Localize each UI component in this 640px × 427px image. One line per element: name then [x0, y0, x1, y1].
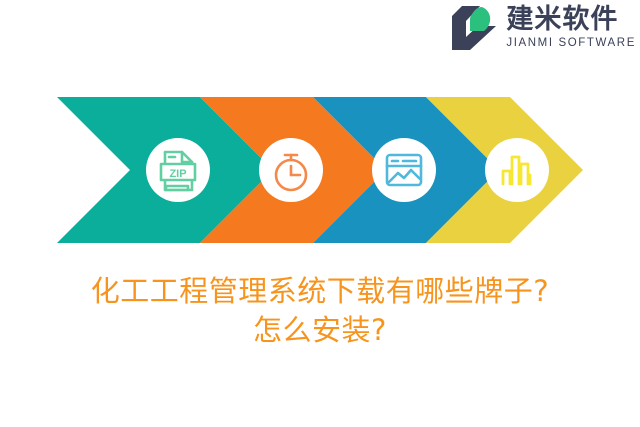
icon-circle-bar-chart: [485, 138, 549, 202]
logo-cn-name: 建米软件: [506, 6, 618, 33]
chevron-process-banner: ZIP: [0, 0, 640, 427]
page-title-line-1: 化工工程管理系统下载有哪些牌子?: [0, 272, 640, 311]
icon-circle-image-window: [372, 138, 436, 202]
jianmi-software-logo: 建米软件 JIANMI SOFTWARE: [448, 4, 636, 52]
logo-text-block: 建米软件 JIANMI SOFTWARE: [506, 6, 636, 50]
svg-text:ZIP: ZIP: [169, 168, 186, 180]
logo-mark-icon: [448, 4, 498, 52]
logo-en-name: JIANMI SOFTWARE: [506, 38, 636, 50]
poster-canvas: ZIP: [0, 0, 640, 427]
page-title-line-2: 怎么安装?: [0, 311, 640, 350]
page-title: 化工工程管理系统下载有哪些牌子? 怎么安装?: [0, 272, 640, 349]
